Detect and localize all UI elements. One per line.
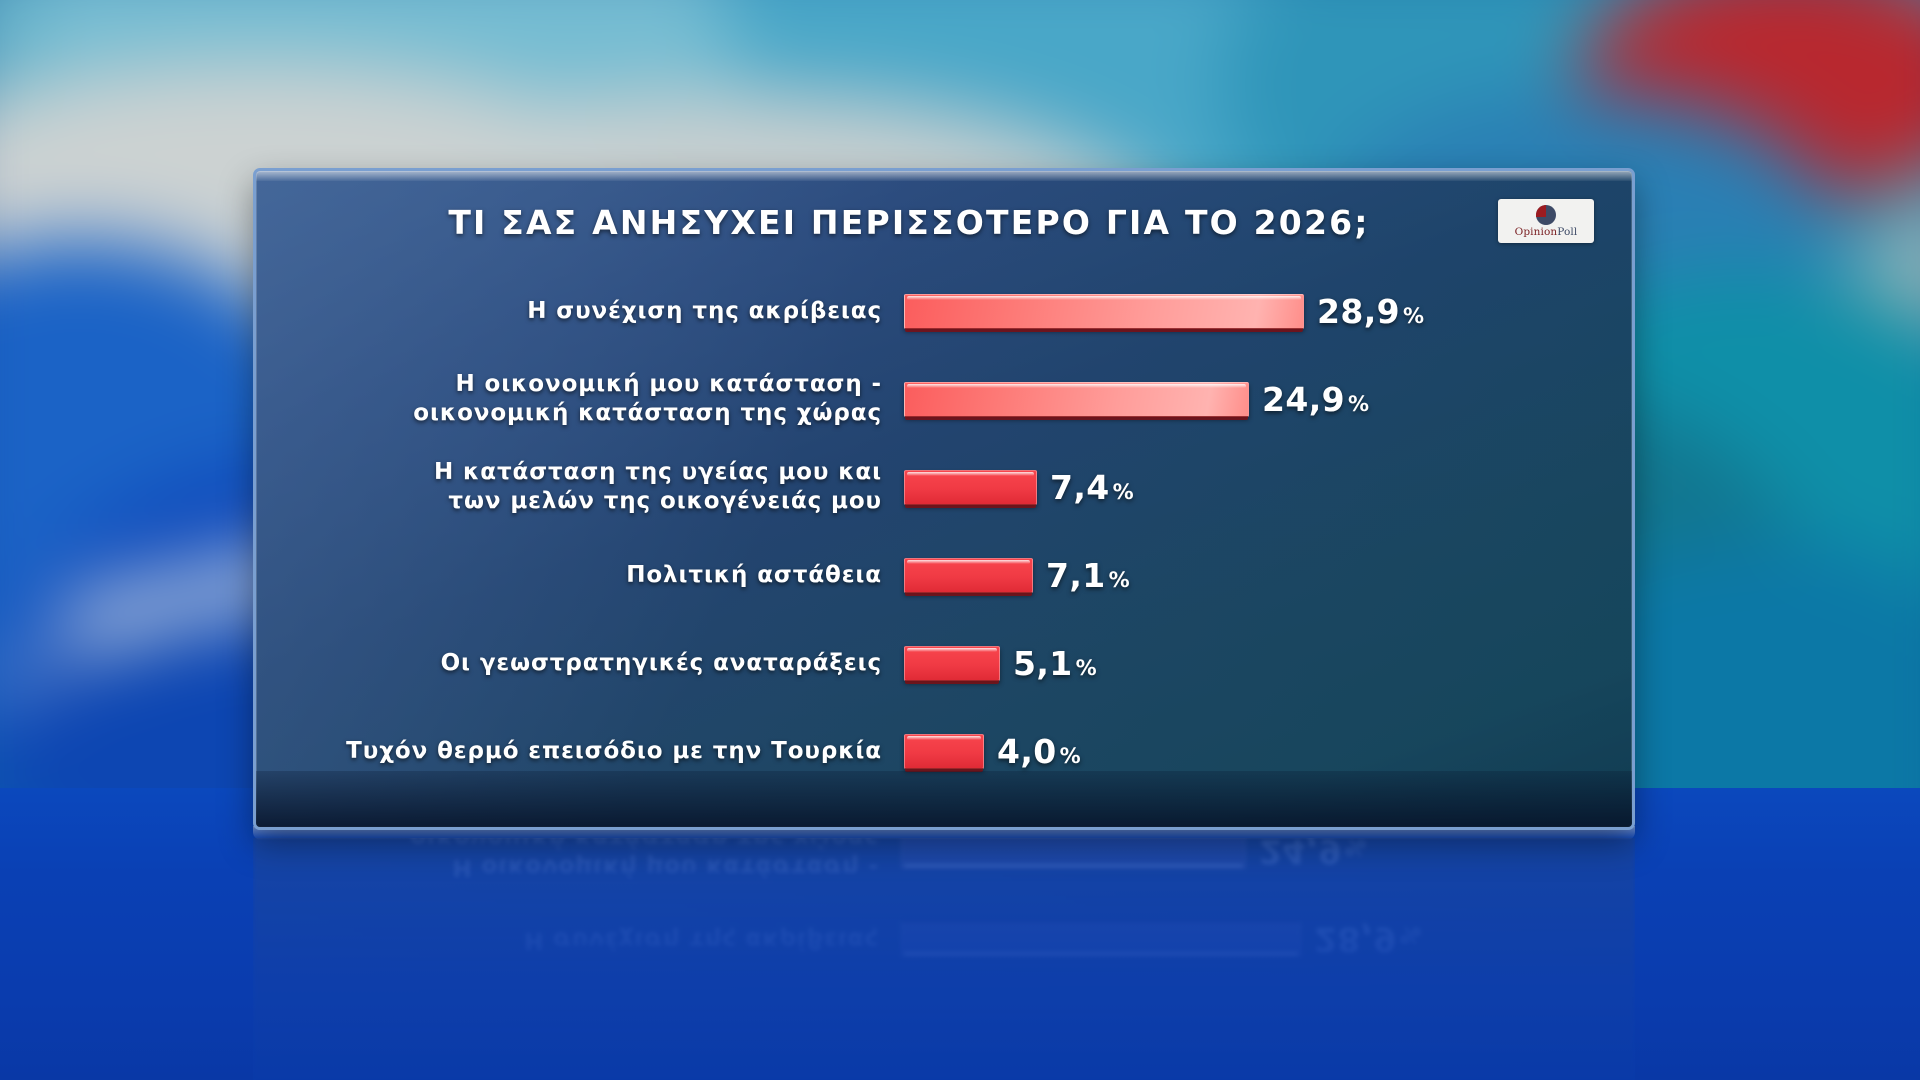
- result-bar: [904, 382, 1249, 417]
- result-bar-wrap: 7,1%: [904, 556, 1130, 595]
- result-bar: [904, 734, 984, 769]
- result-value-percent-sign: %: [1060, 744, 1081, 768]
- result-bar: [904, 294, 1304, 329]
- result-bar-wrap: 4,0%: [904, 732, 1081, 771]
- result-value: 28,9%: [1317, 292, 1424, 331]
- result-row-label-line: Η οικονομική μου κατάσταση -: [256, 370, 882, 399]
- results-rows: Η συνέχιση της ακρίβειας28,9%Η οικονομικ…: [256, 267, 1632, 795]
- result-bar-wrap: 5,1%: [904, 644, 1097, 683]
- logo-text: OpinionPoll: [1515, 226, 1578, 238]
- result-row-label: Η συνέχιση της ακρίβειας: [256, 297, 904, 326]
- result-bar-wrap: 28,9%: [904, 292, 1424, 331]
- result-row-label: Πολιτική αστάθεια: [256, 561, 904, 590]
- result-value: 4,0%: [997, 732, 1081, 771]
- result-row-label-line: Οι γεωστρατηγικές αναταράξεις: [256, 649, 882, 678]
- panel-bottom-band: [256, 771, 1632, 827]
- result-value-percent-sign: %: [1109, 568, 1130, 592]
- panel-reflection: Η συνέχιση της ακρίβειας28,9%Η οικονομικ…: [253, 838, 1635, 1080]
- logo-text-opinion: Opinion: [1515, 226, 1558, 238]
- result-value: 7,1%: [1046, 556, 1130, 595]
- result-row-label: Η οικονομική μου κατάσταση -οικονομική κ…: [256, 370, 904, 427]
- result-bar: [904, 470, 1037, 505]
- result-row-label-line: Η κατάσταση της υγείας μου και: [256, 458, 882, 487]
- result-bar: [904, 646, 1000, 681]
- result-value-number: 4,0: [997, 732, 1057, 771]
- result-row: Η οικονομική μου κατάσταση -οικονομική κ…: [256, 355, 1632, 443]
- result-row-label: Τυχόν θερμό επεισόδιο με την Τουρκία: [256, 737, 904, 766]
- result-row: Η συνέχιση της ακρίβειας28,9%: [256, 267, 1632, 355]
- result-value-number: 24,9: [1262, 380, 1345, 419]
- result-value: 24,9%: [1262, 380, 1369, 419]
- result-row-label: Η κατάσταση της υγείας μου καιτων μελών …: [256, 458, 904, 515]
- panel-top-gloss: [256, 171, 1632, 181]
- pie-circle-icon: [1536, 205, 1556, 225]
- result-row-label-line: οικονομική κατάσταση της χώρας: [256, 399, 882, 428]
- result-bar-wrap: 7,4%: [904, 468, 1134, 507]
- result-value: 7,4%: [1050, 468, 1134, 507]
- result-value-number: 7,4: [1050, 468, 1110, 507]
- result-row-label-line: Πολιτική αστάθεια: [256, 561, 882, 590]
- poll-results-panel: ΤΙ ΣΑΣ ΑΝΗΣΥΧΕΙ ΠΕΡΙΣΣΟΤΕΡΟ ΓΙΑ ΤΟ 2026;…: [253, 168, 1635, 830]
- result-row: Η κατάσταση της υγείας μου καιτων μελών …: [256, 443, 1632, 531]
- result-row-label-line: Η συνέχιση της ακρίβειας: [256, 297, 882, 326]
- result-value-number: 5,1: [1013, 644, 1073, 683]
- result-bar: [904, 558, 1033, 593]
- result-row: Πολιτική αστάθεια7,1%: [256, 531, 1632, 619]
- result-row: Οι γεωστρατηγικές αναταράξεις5,1%: [256, 619, 1632, 707]
- result-value-percent-sign: %: [1113, 480, 1134, 504]
- result-value-number: 7,1: [1046, 556, 1106, 595]
- result-row-label-line: των μελών της οικογένειάς μου: [256, 487, 882, 516]
- result-row-label-line: Τυχόν θερμό επεισόδιο με την Τουρκία: [256, 737, 882, 766]
- result-value-percent-sign: %: [1403, 304, 1424, 328]
- result-value-percent-sign: %: [1076, 656, 1097, 680]
- opinionpoll-logo: OpinionPoll: [1498, 199, 1594, 243]
- result-row-label: Οι γεωστρατηγικές αναταράξεις: [256, 649, 904, 678]
- page-title: ΤΙ ΣΑΣ ΑΝΗΣΥΧΕΙ ΠΕΡΙΣΣΟΤΕΡΟ ΓΙΑ ΤΟ 2026;: [256, 203, 1632, 242]
- result-bar-wrap: 24,9%: [904, 380, 1369, 419]
- result-value-percent-sign: %: [1348, 392, 1369, 416]
- logo-text-poll: Poll: [1557, 226, 1577, 238]
- result-value-number: 28,9: [1317, 292, 1400, 331]
- result-value: 5,1%: [1013, 644, 1097, 683]
